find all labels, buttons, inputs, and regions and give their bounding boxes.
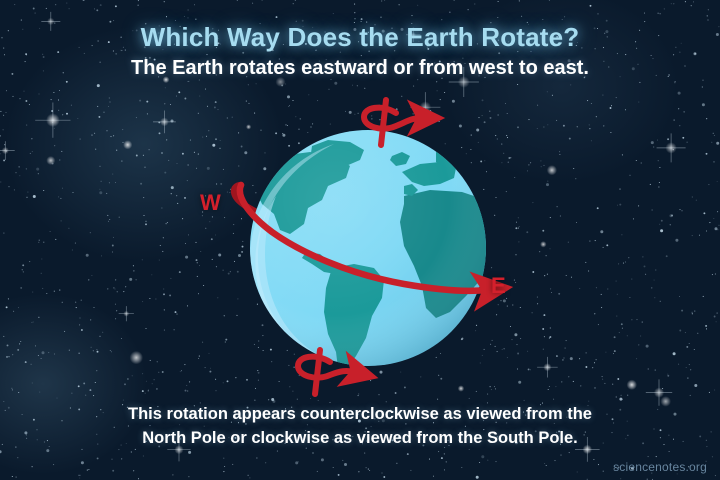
caption-line-1: This rotation appears counterclockwise a… [0,402,720,426]
page-title: Which Way Does the Earth Rotate? [0,22,720,53]
page-caption: This rotation appears counterclockwise a… [0,402,720,450]
earth-globe [244,130,560,370]
caption-line-2: North Pole or clockwise as viewed from t… [0,426,720,450]
site-watermark: sciencenotes.org [613,460,707,474]
east-direction-label: E [491,273,506,299]
infographic-canvas: W E Which Way Does the Earth Rotate? The… [0,0,720,480]
continents [244,130,560,370]
west-direction-label: W [200,190,221,216]
page-subtitle: The Earth rotates eastward or from west … [0,57,720,80]
